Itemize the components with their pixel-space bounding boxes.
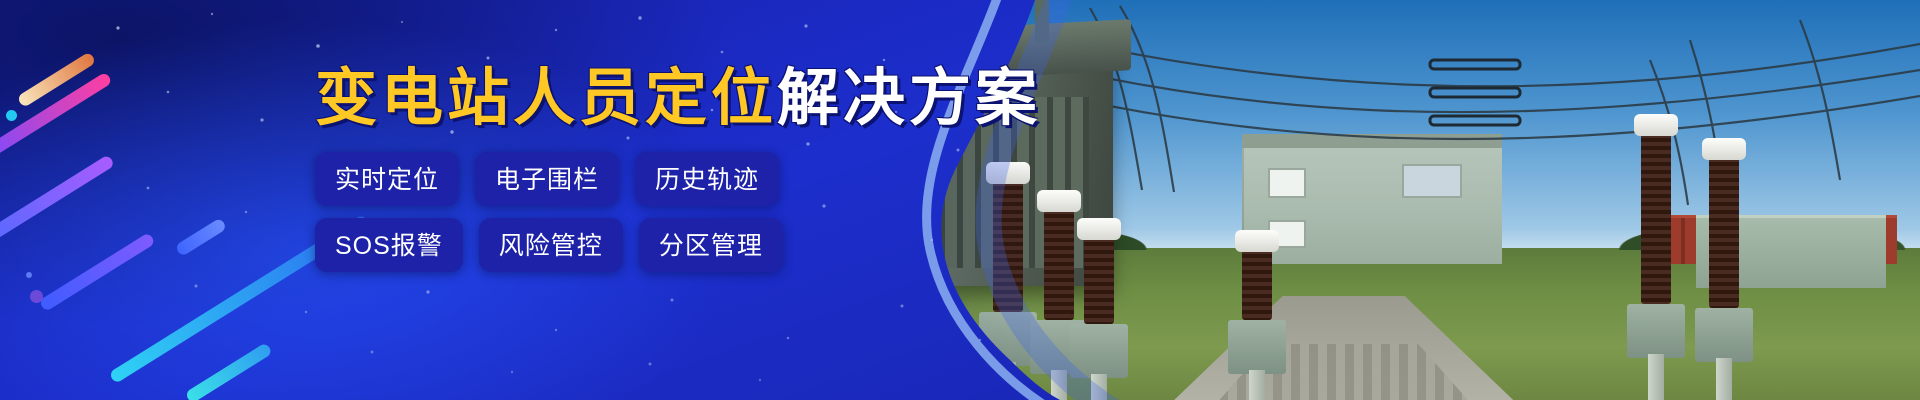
feature-tag[interactable]: 实时定位 bbox=[315, 152, 459, 206]
page-title: 变电站人员定位解决方案 bbox=[315, 68, 1041, 130]
feature-tag-row: 实时定位电子围栏历史轨迹 bbox=[315, 152, 785, 206]
title-highlight: 变电站人员定位 bbox=[315, 64, 777, 133]
feature-tag[interactable]: 风险管控 bbox=[479, 218, 623, 272]
solution-banner: 变电站人员定位解决方案 实时定位电子围栏历史轨迹SOS报警风险管控分区管理 bbox=[0, 0, 1920, 400]
feature-tag-row: SOS报警风险管控分区管理 bbox=[315, 218, 785, 272]
feature-tag-list: 实时定位电子围栏历史轨迹SOS报警风险管控分区管理 bbox=[315, 152, 785, 284]
title-plain: 解决方案 bbox=[777, 64, 1041, 133]
banner-content: 变电站人员定位解决方案 实时定位电子围栏历史轨迹SOS报警风险管控分区管理 bbox=[0, 0, 1060, 400]
feature-tag[interactable]: 历史轨迹 bbox=[635, 152, 779, 206]
feature-tag[interactable]: 分区管理 bbox=[639, 218, 783, 272]
feature-tag[interactable]: SOS报警 bbox=[315, 218, 463, 272]
feature-tag[interactable]: 电子围栏 bbox=[475, 152, 619, 206]
